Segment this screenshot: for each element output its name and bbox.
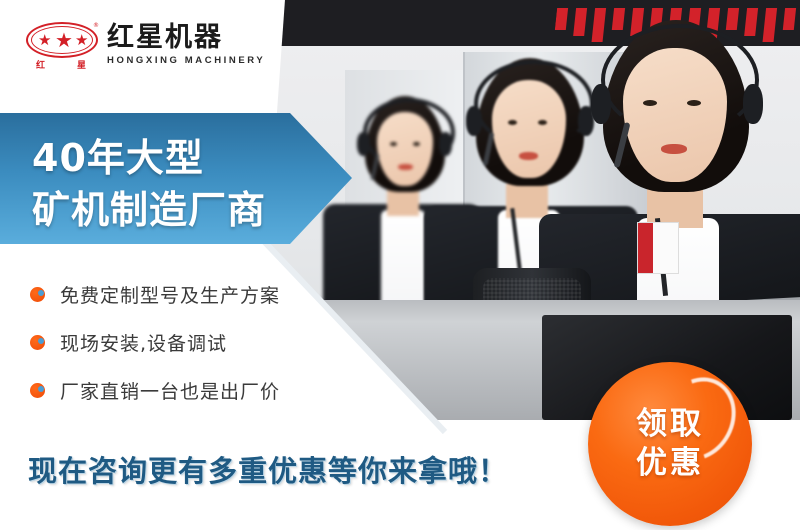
hongxing-emblem-icon: ★ ★ ★ ® 红 星	[26, 20, 98, 70]
bullet-dot-icon	[30, 287, 45, 302]
list-item-label: 现场安装,设备调试	[60, 329, 227, 356]
emblem-text-left: 红	[36, 58, 45, 71]
list-item: 现场安装,设备调试	[30, 318, 280, 366]
brand-name-en: HONGXING MACHINERY	[107, 55, 265, 66]
claim-discount-button[interactable]: 领取 优惠	[588, 362, 752, 526]
feature-list: 免费定制型号及生产方案 现场安装,设备调试 厂家直销一台也是出厂价	[30, 270, 280, 414]
list-item: 厂家直销一台也是出厂价	[30, 366, 280, 414]
star-icon-left: ★	[38, 33, 51, 48]
list-item: 免费定制型号及生产方案	[30, 270, 280, 318]
advertisement-banner: ★ ★ ★ ® 红 星 红星机器 HONGXING MACHINERY 40年大…	[0, 0, 800, 530]
bullet-dot-icon	[30, 335, 45, 350]
registered-mark: ®	[93, 22, 99, 29]
bullet-dot-icon	[30, 383, 45, 398]
list-item-label: 厂家直销一台也是出厂价	[60, 377, 280, 404]
staff-id-badge-front	[637, 222, 679, 274]
star-icon-center: ★	[55, 30, 73, 50]
company-logo[interactable]: ★ ★ ★ ® 红 星 红星机器 HONGXING MACHINERY	[26, 20, 265, 70]
list-item-label: 免费定制型号及生产方案	[60, 281, 280, 308]
photo-background	[255, 0, 800, 420]
cta-line-1: 领取	[636, 405, 704, 444]
brand-name-cn: 红星机器	[107, 24, 265, 51]
star-icon-right: ★	[75, 33, 88, 48]
emblem-text-right: 星	[77, 58, 86, 71]
promo-slogan: 现在咨询更有多重优惠等你来拿哦！	[28, 448, 508, 490]
headline-line-1: 40年大型	[32, 127, 204, 182]
office-staff-photo	[255, 0, 800, 420]
cta-line-2: 优惠	[636, 444, 704, 483]
headline-line-2: 矿机制造厂商	[32, 179, 266, 234]
